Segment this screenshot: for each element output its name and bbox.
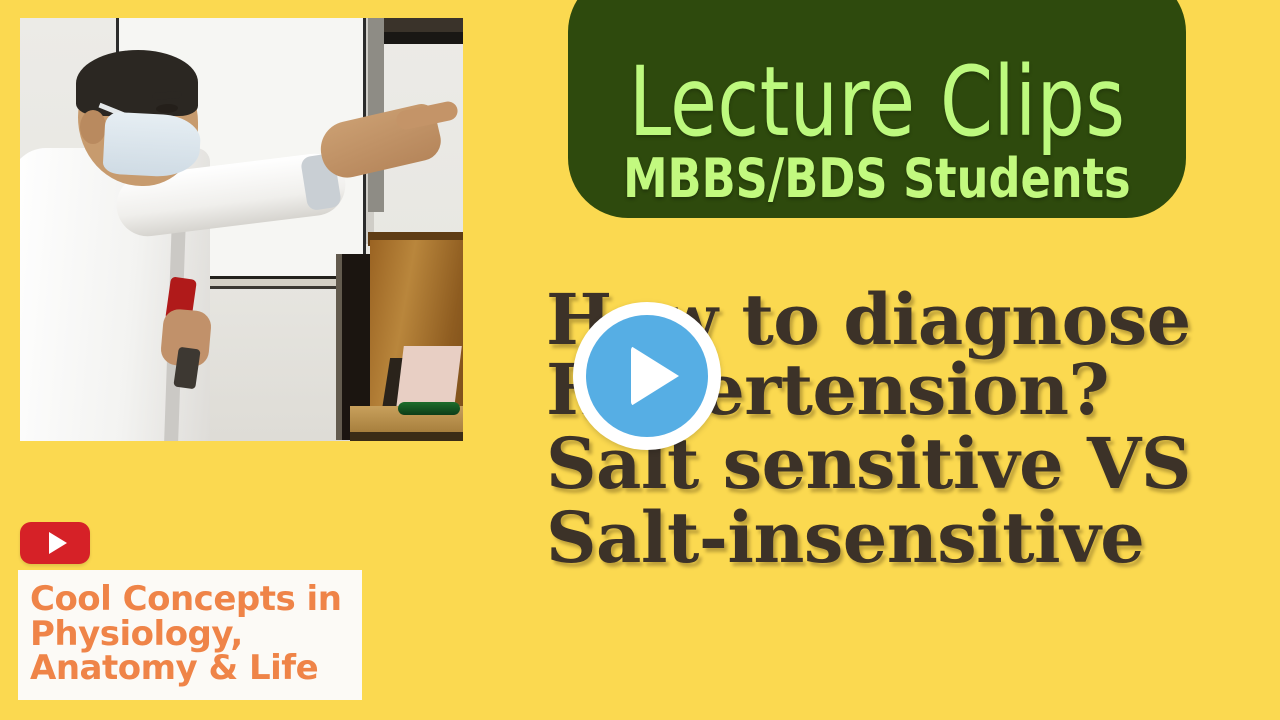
photo-ceiling-beam-shadow [372,32,463,44]
banner-subtitle: MBBS/BDS Students [623,151,1131,208]
photo-paper [396,346,462,408]
headline-line-4: Salt-insensitive [546,504,1206,572]
channel-name-panel: Cool Concepts in Physiology, Anatomy & L… [18,570,362,700]
lecture-clips-banner: Lecture Clips MBBS/BDS Students [568,0,1186,218]
youtube-badge[interactable] [20,522,90,564]
photo-hair [76,50,198,116]
play-icon [631,346,679,406]
video-thumbnail: Lecture Clips MBBS/BDS Students How to d… [0,0,1280,720]
photo-surgical-mask [102,112,201,179]
banner-title: Lecture Clips [629,55,1126,149]
play-button[interactable] [573,302,721,450]
photo-green-object [398,402,460,415]
channel-name-line-3: Anatomy & Life [30,651,352,686]
youtube-play-icon [49,532,67,554]
photo-ear [80,110,106,144]
photo-desk-front [350,432,463,441]
lecturer-photo [20,18,463,441]
channel-name-line-2: Physiology, [30,617,352,652]
play-button-circle[interactable] [586,315,708,437]
channel-name-line-1: Cool Concepts in [30,582,352,617]
